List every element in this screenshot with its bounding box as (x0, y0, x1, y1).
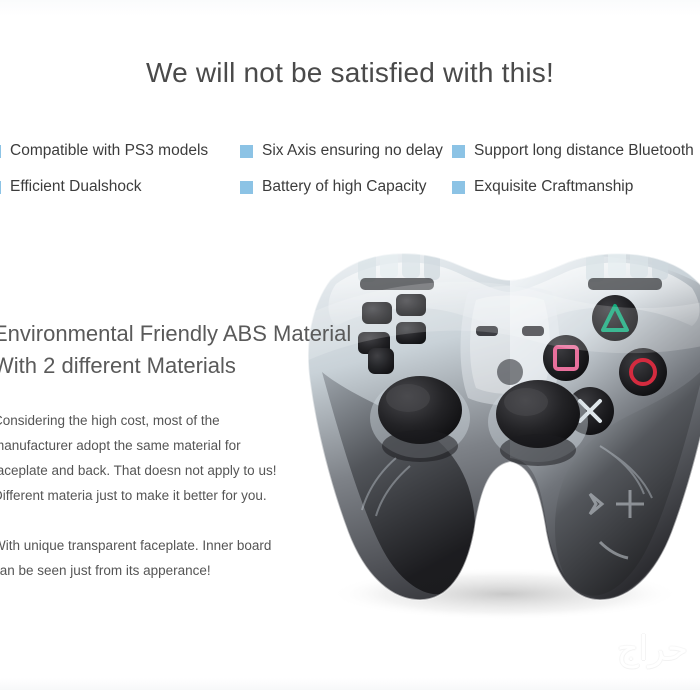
copy-paragraph-2: With unique transparent faceplate. Inner… (0, 533, 293, 583)
feature-item-battery: Battery of high Capacity (240, 179, 452, 195)
product-infographic-page: We will not be satisfied with this! Comp… (0, 0, 700, 690)
bullet-square-icon (0, 181, 1, 194)
feature-list: Compatible with PS3 models Six Axis ensu… (0, 133, 700, 205)
feature-item-compatible-ps3: Compatible with PS3 models (0, 143, 240, 159)
product-image-controller (300, 222, 700, 622)
bullet-square-icon (452, 181, 465, 194)
copy-block: Environmental Friendly ABS Material With… (0, 318, 338, 583)
feature-label: Compatible with PS3 models (10, 143, 208, 159)
bullet-square-icon (240, 181, 253, 194)
top-edge-band (0, 0, 700, 16)
copy-body: Considering the high cost, most of the m… (0, 408, 293, 583)
feature-item-dualshock: Efficient Dualshock (0, 179, 240, 195)
feature-item-craftmanship: Exquisite Craftmanship (452, 179, 700, 195)
bullet-square-icon (452, 145, 465, 158)
copy-heading-line-2: With 2 different Materials (0, 350, 338, 382)
ps-home-button (497, 359, 523, 385)
feature-item-bluetooth: Support long distance Bluetooth (452, 143, 700, 159)
copy-paragraph-1: Considering the high cost, most of the m… (0, 408, 293, 508)
site-watermark: حراج (538, 626, 688, 672)
copy-heading: Environmental Friendly ABS Material With… (0, 318, 338, 382)
bullet-square-icon (0, 145, 1, 158)
bullet-square-icon (240, 145, 253, 158)
feature-item-six-axis: Six Axis ensuring no delay (240, 143, 452, 159)
copy-heading-line-1: Environmental Friendly ABS Material (0, 318, 338, 350)
page-title: We will not be satisfied with this! (0, 57, 700, 89)
watermark-text: حراج (538, 626, 688, 672)
feature-label: Exquisite Craftmanship (474, 179, 633, 195)
feature-label: Support long distance Bluetooth (474, 143, 694, 159)
feature-label: Efficient Dualshock (10, 179, 142, 195)
feature-label: Six Axis ensuring no delay (262, 143, 443, 159)
feature-label: Battery of high Capacity (262, 179, 427, 195)
bottom-edge-band (0, 678, 700, 690)
controller-body (300, 248, 700, 600)
